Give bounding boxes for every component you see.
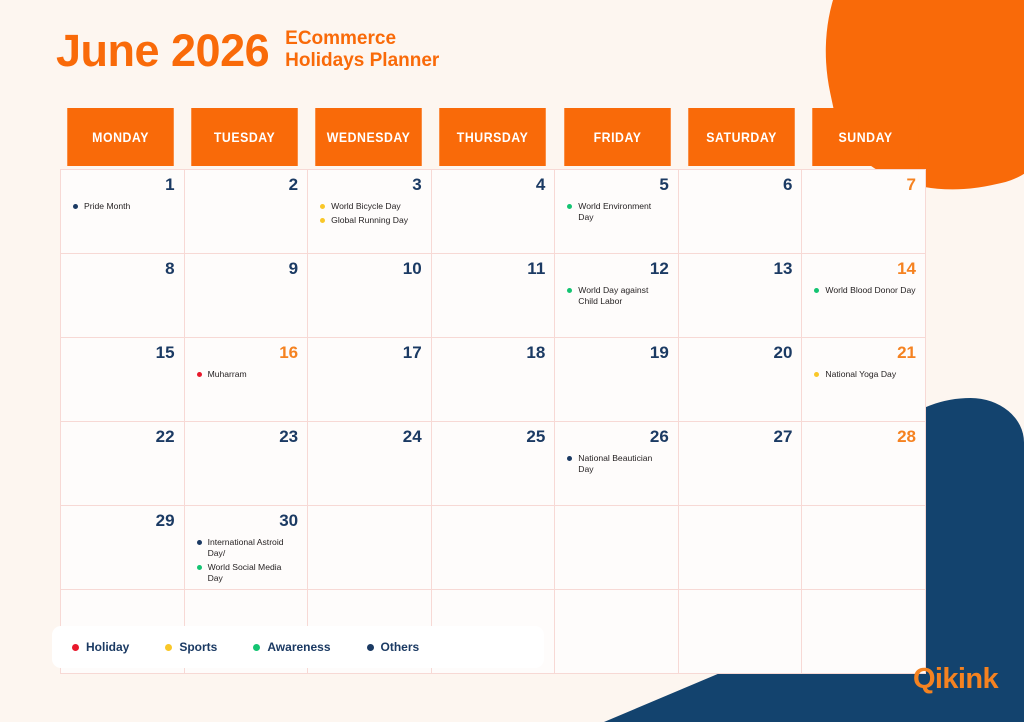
day-cell-empty[interactable]	[679, 590, 803, 674]
event-label: World Bicycle Day	[331, 201, 401, 211]
day-number: 29	[70, 512, 175, 532]
day-number	[194, 596, 299, 616]
day-number: 2	[194, 176, 299, 196]
day-number: 10	[317, 260, 422, 280]
event-item[interactable]: National Yoga Day	[825, 369, 916, 380]
weekday-header-saturday: SATURDAY	[688, 108, 795, 166]
day-number: 27	[688, 428, 793, 448]
day-cell-18[interactable]: 18	[432, 338, 556, 422]
day-number: 7	[811, 176, 916, 196]
event-label: World Blood Donor Day	[825, 285, 915, 295]
subtitle-line-2: Holidays Planner	[285, 50, 439, 72]
day-cell-17[interactable]: 17	[308, 338, 432, 422]
event-list: World Environment Day	[564, 201, 669, 223]
week-row: 2223242526National Beautician Day2728	[61, 422, 926, 506]
day-number: 1	[70, 176, 175, 196]
day-cell-5[interactable]: 5World Environment Day	[555, 170, 679, 254]
day-cell-10[interactable]: 10	[308, 254, 432, 338]
day-number: 9	[194, 260, 299, 280]
event-list: International Astroid Day/World Social M…	[194, 537, 299, 584]
day-cell-23[interactable]: 23	[185, 422, 309, 506]
day-number	[811, 512, 916, 532]
day-number: 20	[688, 344, 793, 364]
calendar-grid: MONDAYTUESDAYWEDNESDAYTHURSDAYFRIDAYSATU…	[60, 108, 926, 674]
weekday-header-monday: MONDAY	[67, 108, 174, 166]
day-number	[70, 596, 175, 616]
day-number	[564, 512, 669, 532]
event-item[interactable]: International Astroid Day/	[208, 537, 299, 559]
event-item[interactable]: World Bicycle Day	[331, 201, 422, 212]
event-category-dot-sports	[320, 204, 325, 209]
legend-dot-awareness	[253, 644, 260, 651]
event-category-dot-sports	[814, 372, 819, 377]
day-cell-2[interactable]: 2	[185, 170, 309, 254]
page-title: June 2026	[56, 28, 269, 73]
event-category-dot-others	[197, 540, 202, 545]
week-row: 2930International Astroid Day/World Soci…	[61, 506, 926, 590]
day-number: 26	[564, 428, 669, 448]
day-cell-8[interactable]: 8	[61, 254, 185, 338]
legend-item-holiday[interactable]: Holiday	[72, 640, 129, 654]
day-cell-27[interactable]: 27	[679, 422, 803, 506]
day-cell-29[interactable]: 29	[61, 506, 185, 590]
legend-label: Awareness	[267, 640, 330, 654]
event-category-dot-others	[73, 204, 78, 209]
day-cell-6[interactable]: 6	[679, 170, 803, 254]
calendar-header: June 2026 ECommerce Holidays Planner	[56, 28, 439, 74]
day-cell-25[interactable]: 25	[432, 422, 556, 506]
event-category-dot-awareness	[197, 565, 202, 570]
day-number: 4	[441, 176, 546, 196]
day-cell-9[interactable]: 9	[185, 254, 309, 338]
event-list: Muharram	[194, 369, 299, 380]
event-label: Muharram	[208, 369, 247, 379]
event-category-dot-awareness	[567, 288, 572, 293]
weekday-header-sunday: SUNDAY	[812, 108, 919, 166]
day-number: 12	[564, 260, 669, 280]
event-category-dot-awareness	[814, 288, 819, 293]
day-number: 21	[811, 344, 916, 364]
event-list: Pride Month	[70, 201, 175, 212]
event-item[interactable]: Pride Month	[84, 201, 175, 212]
event-label: Pride Month	[84, 201, 130, 211]
weekday-header-thursday: THURSDAY	[440, 108, 547, 166]
day-cell-12[interactable]: 12World Day against Child Labor	[555, 254, 679, 338]
day-number: 11	[441, 260, 546, 280]
day-number: 6	[688, 176, 793, 196]
day-cell-empty[interactable]	[555, 506, 679, 590]
event-label: World Environment Day	[578, 201, 651, 222]
subtitle-line-1: ECommerce	[285, 28, 439, 50]
legend-label: Holiday	[86, 640, 129, 654]
day-number	[688, 596, 793, 616]
event-item[interactable]: Muharram	[208, 369, 299, 380]
day-cell-20[interactable]: 20	[679, 338, 803, 422]
day-cell-3[interactable]: 3World Bicycle DayGlobal Running Day	[308, 170, 432, 254]
day-cell-11[interactable]: 11	[432, 254, 556, 338]
page-subtitle: ECommerce Holidays Planner	[285, 28, 439, 74]
day-cell-7[interactable]: 7	[802, 170, 926, 254]
day-cell-empty[interactable]	[802, 590, 926, 674]
category-legend: HolidaySportsAwarenessOthers	[52, 626, 544, 668]
event-label: World Social Media Day	[208, 562, 282, 583]
day-number: 14	[811, 260, 916, 280]
event-list: World Day against Child Labor	[564, 285, 669, 307]
weekday-header-wednesday: WEDNESDAY	[316, 108, 423, 166]
day-cell-28[interactable]: 28	[802, 422, 926, 506]
day-number	[564, 596, 669, 616]
day-number: 8	[70, 260, 175, 280]
event-item[interactable]: National Beautician Day	[578, 453, 669, 475]
day-number: 19	[564, 344, 669, 364]
day-cell-13[interactable]: 13	[679, 254, 803, 338]
event-category-dot-holiday	[197, 372, 202, 377]
legend-label: Sports	[179, 640, 217, 654]
day-number: 3	[317, 176, 422, 196]
event-item[interactable]: World Blood Donor Day	[825, 285, 916, 296]
day-number: 22	[70, 428, 175, 448]
event-label: International Astroid Day/	[208, 537, 284, 558]
day-number: 17	[317, 344, 422, 364]
day-cell-30[interactable]: 30International Astroid Day/World Social…	[185, 506, 309, 590]
event-item[interactable]: World Day against Child Labor	[578, 285, 669, 307]
day-cell-1[interactable]: 1Pride Month	[61, 170, 185, 254]
legend-dot-holiday	[72, 644, 79, 651]
weekday-header-tuesday: TUESDAY	[191, 108, 298, 166]
week-row: 1Pride Month23World Bicycle DayGlobal Ru…	[61, 170, 926, 254]
event-item[interactable]: World Environment Day	[578, 201, 669, 223]
legend-label: Others	[381, 640, 420, 654]
day-number	[317, 512, 422, 532]
legend-item-sports[interactable]: Sports	[165, 640, 217, 654]
day-number	[317, 596, 422, 616]
day-cell-22[interactable]: 22	[61, 422, 185, 506]
day-number: 5	[564, 176, 669, 196]
day-cell-empty[interactable]	[308, 506, 432, 590]
legend-dot-sports	[165, 644, 172, 651]
day-number: 23	[194, 428, 299, 448]
day-number	[441, 512, 546, 532]
event-list: World Blood Donor Day	[811, 285, 916, 296]
calendar-weeks: 1Pride Month23World Bicycle DayGlobal Ru…	[60, 169, 926, 674]
day-cell-4[interactable]: 4	[432, 170, 556, 254]
day-number: 25	[441, 428, 546, 448]
legend-item-awareness[interactable]: Awareness	[253, 640, 330, 654]
day-cell-26[interactable]: 26National Beautician Day	[555, 422, 679, 506]
day-cell-empty[interactable]	[679, 506, 803, 590]
day-number: 28	[811, 428, 916, 448]
day-number: 16	[194, 344, 299, 364]
event-item[interactable]: World Social Media Day	[208, 562, 299, 584]
day-cell-14[interactable]: 14World Blood Donor Day	[802, 254, 926, 338]
event-label: National Beautician Day	[578, 453, 652, 474]
day-number: 15	[70, 344, 175, 364]
event-label: World Day against Child Labor	[578, 285, 648, 306]
event-category-dot-sports	[320, 218, 325, 223]
weekday-header-row: MONDAYTUESDAYWEDNESDAYTHURSDAYFRIDAYSATU…	[60, 108, 926, 166]
event-label: Global Running Day	[331, 215, 408, 225]
event-category-dot-awareness	[567, 204, 572, 209]
day-cell-21[interactable]: 21National Yoga Day	[802, 338, 926, 422]
event-list: National Beautician Day	[564, 453, 669, 475]
legend-dot-others	[367, 644, 374, 651]
event-label: National Yoga Day	[825, 369, 896, 379]
day-cell-empty[interactable]	[555, 590, 679, 674]
event-list: National Yoga Day	[811, 369, 916, 380]
event-list: World Bicycle DayGlobal Running Day	[317, 201, 422, 226]
day-cell-19[interactable]: 19	[555, 338, 679, 422]
day-number	[811, 596, 916, 616]
event-category-dot-others	[567, 456, 572, 461]
day-number: 24	[317, 428, 422, 448]
weekday-header-friday: FRIDAY	[564, 108, 671, 166]
day-number	[688, 512, 793, 532]
day-number: 13	[688, 260, 793, 280]
day-cell-24[interactable]: 24	[308, 422, 432, 506]
day-cell-empty[interactable]	[432, 506, 556, 590]
day-cell-empty[interactable]	[802, 506, 926, 590]
day-number: 30	[194, 512, 299, 532]
day-cell-15[interactable]: 15	[61, 338, 185, 422]
qikink-logo: Qikink	[913, 665, 998, 694]
event-item[interactable]: Global Running Day	[331, 215, 422, 226]
week-row: 1516Muharram1718192021National Yoga Day	[61, 338, 926, 422]
day-number	[441, 596, 546, 616]
week-row: 89101112World Day against Child Labor131…	[61, 254, 926, 338]
day-number: 18	[441, 344, 546, 364]
day-cell-16[interactable]: 16Muharram	[185, 338, 309, 422]
legend-item-others[interactable]: Others	[367, 640, 420, 654]
